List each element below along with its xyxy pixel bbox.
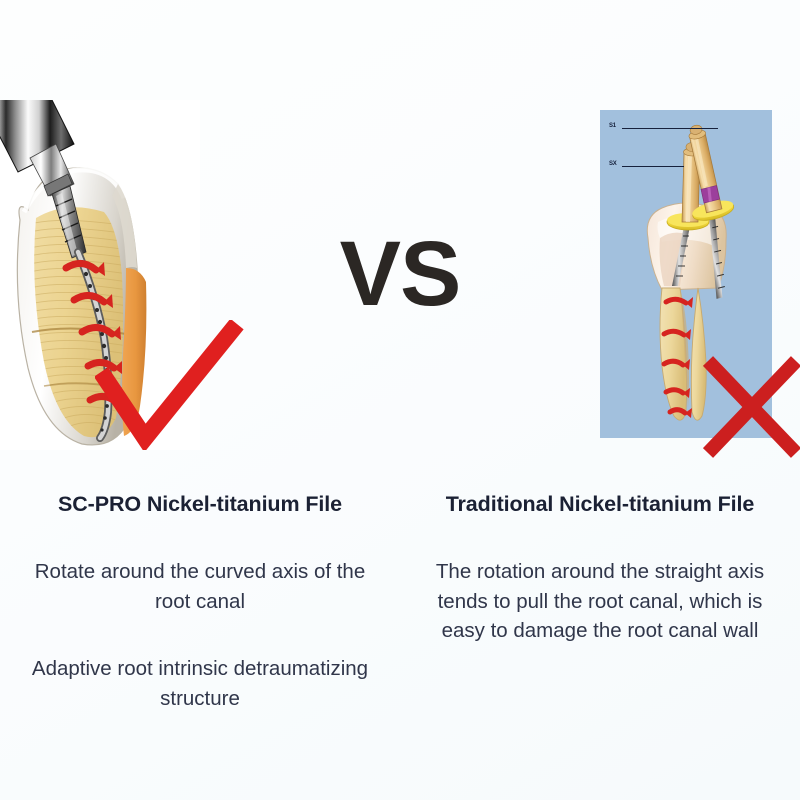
- description-band: SC-PRO Nickel-titanium File Rotate aroun…: [0, 470, 800, 800]
- right-description-column: Traditional Nickel-titanium File The rot…: [400, 470, 800, 800]
- left-description-column: SC-PRO Nickel-titanium File Rotate aroun…: [0, 470, 400, 800]
- right-tooth-illustration: S1 SX: [600, 110, 772, 438]
- illustration-band: VS: [0, 0, 800, 470]
- right-product-title: Traditional Nickel-titanium File: [400, 492, 800, 517]
- right-feature-text-1: The rotation around the straight axis te…: [400, 557, 800, 646]
- left-product-title: SC-PRO Nickel-titanium File: [0, 492, 400, 517]
- left-feature-text-2: Adaptive root intrinsic detraumatizing s…: [0, 654, 400, 713]
- left-feature-text-1: Rotate around the curved axis of the roo…: [0, 557, 400, 616]
